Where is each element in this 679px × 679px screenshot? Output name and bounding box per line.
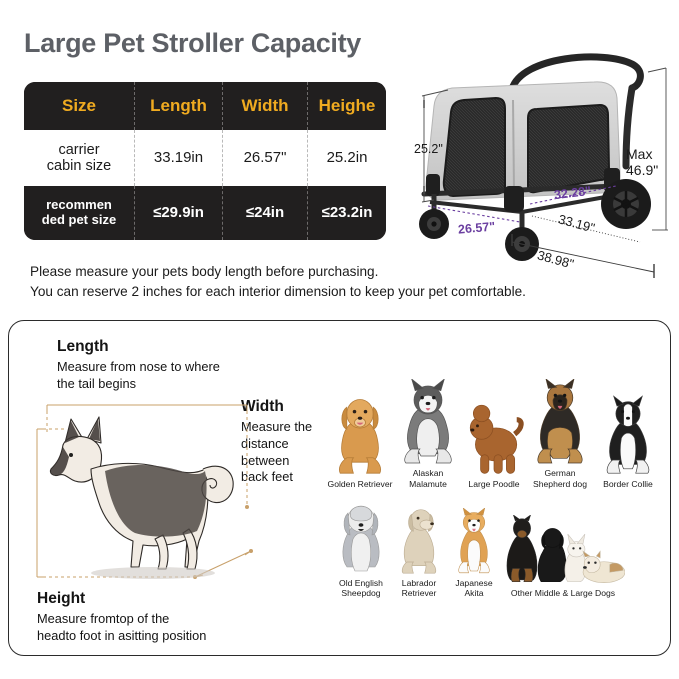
breed-label: Labrador Retriever: [402, 578, 437, 599]
length-guide: Length Measure from nose to where the ta…: [57, 337, 307, 393]
breed-item: Alaskan Malamute: [393, 379, 463, 489]
dim-max-handle-height: Max 46.9": [626, 146, 658, 178]
breed-item: Border Collie: [595, 379, 661, 489]
spec-table: Size Length Width Heighe carrier cabin s…: [24, 82, 386, 240]
labrador-retriever-image: [391, 506, 447, 575]
breed-label: Japanese Akita: [455, 578, 492, 599]
breed-label: Alaskan Malamute: [393, 468, 463, 489]
breed-grid-row-1: Golden Retriever: [327, 379, 667, 489]
header-cell-height: Heighe: [307, 82, 386, 130]
breed-label: Old English Sheepdog: [339, 578, 383, 599]
large-poodle-image: [463, 399, 525, 475]
cell-pet-height: ≤23.2in: [307, 186, 386, 240]
table-row: recommen ded pet size ≤29.9in ≤24in ≤23.…: [24, 186, 386, 240]
table-row: carrier cabin size 33.19in 26.57" 25.2in: [24, 130, 386, 186]
japanese-akita-image: [447, 508, 501, 575]
infographic-page: Large Pet Stroller Capacity Size Length …: [0, 0, 679, 679]
breed-label: Large Poodle: [468, 479, 519, 489]
cell-cabin-width: 26.57": [222, 130, 307, 186]
german-shepherd-image: [525, 379, 595, 465]
breed-label: Other Middle & Large Dogs: [511, 588, 615, 598]
breed-item: German Shepherd dog: [525, 379, 595, 489]
breed-label: Golden Retriever: [328, 479, 393, 489]
breed-label: Border Collie: [603, 479, 653, 489]
length-guide-title: Length: [57, 337, 307, 356]
height-guide-desc: Measure fromtop of the headto foot in as…: [37, 611, 337, 644]
breed-label: German Shepherd dog: [533, 468, 587, 489]
dim-cabin-height: 25.2": [414, 142, 443, 156]
breed-grid-row-2: Old English Sheepdog Labr: [331, 501, 631, 599]
cell-pet-width: ≤24in: [222, 186, 307, 240]
alaskan-malamute-image: [393, 379, 463, 465]
breed-item: Large Poodle: [463, 379, 525, 489]
breed-item: Japanese Akita: [447, 501, 501, 599]
length-guide-desc: Measure from nose to where the tail begi…: [57, 359, 307, 392]
page-title: Large Pet Stroller Capacity: [24, 28, 361, 59]
cell-cabin-height: 25.2in: [307, 130, 386, 186]
header-cell-length: Length: [134, 82, 222, 130]
header-cell-size: Size: [24, 82, 134, 130]
golden-retriever-image: [327, 394, 393, 475]
height-guide: Height Measure fromtop of the headto foo…: [37, 589, 337, 645]
header-cell-width: Width: [222, 82, 307, 130]
cell-pet-length: ≤29.9in: [134, 186, 222, 240]
measurement-guide-panel: Length Measure from nose to where the ta…: [8, 320, 671, 656]
breed-item: Labrador Retriever: [391, 501, 447, 599]
height-guide-title: Height: [37, 589, 337, 608]
breed-item: Golden Retriever: [327, 379, 393, 489]
row-label-pet-size: recommen ded pet size: [24, 186, 134, 240]
row-label-cabin-size: carrier cabin size: [24, 130, 134, 186]
note-line-2: You can reserve 2 inches for each interi…: [30, 282, 526, 302]
other-large-dogs-image: [501, 515, 625, 586]
table-header-row: Size Length Width Heighe: [24, 82, 386, 130]
old-english-sheepdog-image: [331, 501, 391, 575]
border-collie-image: [595, 394, 661, 475]
dog-measurement-illustration: [35, 399, 275, 589]
stroller-illustration: 25.2" Max 46.9" 32.28" 26.57" 33.19" 38.…: [404, 34, 679, 284]
cell-cabin-length: 33.19in: [134, 130, 222, 186]
breed-item: Other Middle & Large Dogs: [501, 501, 625, 599]
breed-item: Old English Sheepdog: [331, 501, 391, 599]
